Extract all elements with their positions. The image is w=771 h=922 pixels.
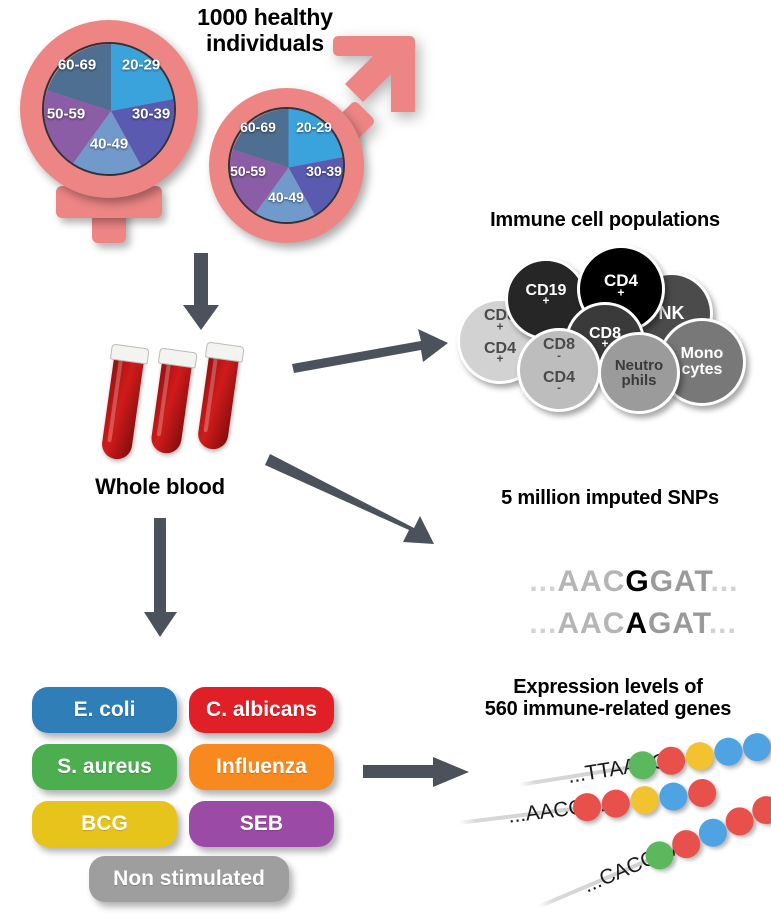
- arrow-cohort-to-blood: [180, 253, 222, 331]
- snps-title: 5 million imputed SNPs: [455, 487, 765, 509]
- immune-title: Immune cell populations: [440, 209, 770, 231]
- expression-bead: [629, 784, 660, 815]
- immune-cell-label-line1: CD8-: [543, 337, 575, 370]
- immune-cell-label-line2: CD4+: [484, 341, 516, 374]
- expression-bead: [741, 731, 771, 763]
- stimulus-label: Non stimulated: [113, 867, 265, 891]
- superscript: +: [543, 296, 550, 308]
- snp-lead-dots: ...: [529, 607, 557, 640]
- female-pie-label-20-29: 20-29: [122, 57, 160, 74]
- male-pie-label-50-59: 50-59: [230, 163, 266, 179]
- stimulus-s-aureus[interactable]: S. aureus: [32, 744, 177, 790]
- stimulus-influenza[interactable]: Influenza: [189, 744, 334, 790]
- expression-bead: [712, 736, 744, 768]
- stimulus-label: Influenza: [216, 755, 307, 779]
- snp-variant-base: A: [625, 607, 648, 640]
- blood-tube-body: [196, 350, 239, 451]
- stimulus-label: BCG: [81, 812, 128, 836]
- immune-cell-label-line1: Neutro: [615, 358, 663, 373]
- expression-title-line1: Expression levels of: [448, 676, 768, 698]
- superscript: -: [557, 350, 561, 362]
- whole-blood-label: Whole blood: [60, 475, 260, 500]
- stimulus-c-albicans[interactable]: C. albicans: [189, 687, 334, 733]
- expression-title: Expression levels of 560 immune-related …: [448, 676, 768, 721]
- snp-suffix: GAT: [648, 607, 709, 640]
- immune-cell-neutrophils: Neutro phils: [598, 332, 680, 414]
- expression-bead: [684, 740, 716, 772]
- snp-trail-dots: ...: [709, 607, 737, 640]
- female-symbol: 20-29 30-39 40-49 50-59 60-69: [8, 8, 208, 243]
- immune-cell-label-line1: CD19+: [526, 283, 567, 316]
- stimulus-label: C. albicans: [206, 698, 317, 722]
- arrow-blood-to-snps: [268, 448, 448, 548]
- immune-cell-label-line2: phils: [615, 373, 663, 388]
- snp-sequence-row-2: ...AACAGAT...: [492, 573, 737, 675]
- arrow-blood-to-stimuli: [140, 518, 182, 638]
- stimulus-label: S. aureus: [57, 755, 152, 779]
- immune-cell-label-line2: cytes: [681, 362, 724, 378]
- stimulus-label: SEB: [240, 812, 283, 836]
- figure-canvas: 1000 healthy individuals 20-29 30-39 40-…: [0, 0, 771, 922]
- immune-cell-label-line1: CD4+: [604, 272, 638, 307]
- stimulus-non-stimulated[interactable]: Non stimulated: [89, 856, 289, 902]
- stimulus-bcg[interactable]: BCG: [32, 801, 177, 847]
- snp-prefix: AAC: [557, 607, 625, 640]
- female-pie-label-60-69: 60-69: [58, 57, 96, 74]
- expression-title-line2: 560 immune-related genes: [448, 698, 768, 720]
- male-pie-label-30-39: 30-39: [306, 163, 342, 179]
- female-pie-label-40-49: 40-49: [90, 136, 128, 153]
- arrow-blood-to-immune: [290, 325, 450, 375]
- superscript: +: [497, 354, 504, 366]
- male-pie-label-40-49: 40-49: [268, 189, 304, 205]
- gene-strands: ...TTAACGG ...AACGGAT ...CACGCAA: [440, 742, 771, 922]
- superscript: +: [497, 321, 504, 333]
- male-pie-label-20-29: 20-29: [296, 119, 332, 135]
- female-pie-label-30-39: 30-39: [132, 106, 170, 123]
- expression-bead: [658, 781, 689, 812]
- stimulus-label: E. coli: [74, 698, 136, 722]
- superscript: -: [557, 383, 561, 395]
- stimulus-e-coli[interactable]: E. coli: [32, 687, 177, 733]
- male-pie-label-60-69: 60-69: [240, 119, 276, 135]
- expression-bead: [687, 777, 718, 808]
- immune-cell-label-line2: CD4-: [543, 370, 575, 403]
- stimulus-seb[interactable]: SEB: [189, 801, 334, 847]
- immune-cell-label-line1: NK: [659, 304, 685, 322]
- blood-tube-body: [100, 352, 144, 461]
- blood-tubes: [110, 340, 270, 470]
- superscript: +: [617, 285, 624, 299]
- female-pie-label-50-59: 50-59: [47, 106, 85, 123]
- immune-cell-cd8n-cd4n: CD8- CD4-: [517, 328, 601, 412]
- immune-cell-label-line1: Mono: [681, 346, 724, 362]
- blood-tube-body: [150, 356, 193, 455]
- immune-cell-cluster: CD8+ CD4+ NK CD19+ CD4+ CD8+ Mono cytes …: [455, 240, 765, 415]
- male-symbol: 20-29 30-39 40-49 50-59 60-69: [203, 28, 418, 243]
